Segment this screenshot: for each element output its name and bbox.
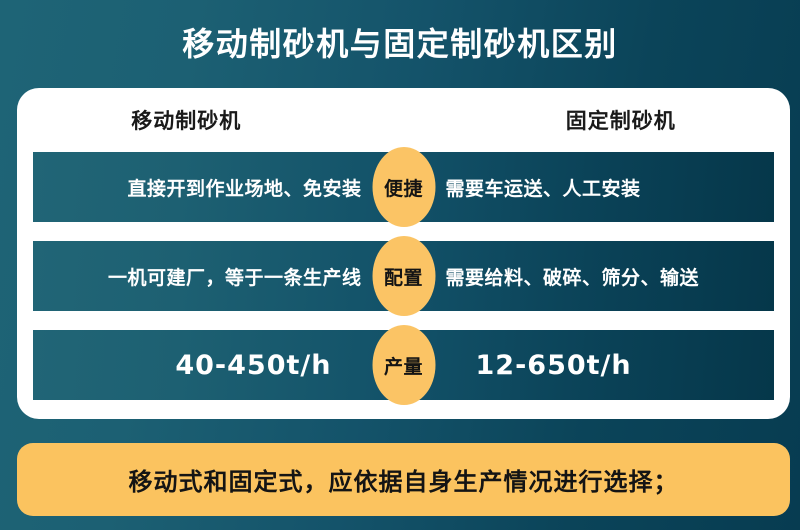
footer-note-text: 移动式和固定式，应依据自身生产情况进行选择； [129,462,679,497]
row-badge: 配置 [372,236,435,316]
row-value-mobile: 40-450t/h [33,350,404,381]
row-badge-label: 产量 [384,352,423,379]
table-row: 一机可建厂，等于一条生产线 配置 需要给料、破碎、筛分、输送 [33,241,774,311]
page-title: 移动制砂机与固定制砂机区别 [182,28,618,60]
row-value-stationary: 需要车运送、人工安装 [404,174,775,201]
row-badge-label: 便捷 [384,174,423,201]
row-value-mobile: 一机可建厂，等于一条生产线 [33,263,404,290]
row-value-mobile: 直接开到作业场地、免安装 [33,174,404,201]
row-badge-label: 配置 [384,263,423,290]
comparison-column-headers: 移动制砂机 固定制砂机 [17,88,790,152]
footer-note-banner: 移动式和固定式，应依据自身生产情况进行选择； [17,443,790,516]
table-row: 直接开到作业场地、免安装 便捷 需要车运送、人工安装 [33,152,774,222]
page-title-bar: 移动制砂机与固定制砂机区别 [0,0,800,88]
comparison-card: 移动制砂机 固定制砂机 直接开到作业场地、免安装 便捷 需要车运送、人工安装 一… [17,88,790,419]
row-badge: 便捷 [372,147,435,227]
comparison-rows: 直接开到作业场地、免安装 便捷 需要车运送、人工安装 一机可建厂，等于一条生产线… [17,152,790,400]
row-badge: 产量 [372,325,435,405]
column-header-stationary: 固定制砂机 [416,105,791,135]
table-row: 40-450t/h 产量 12-650t/h [33,330,774,400]
row-value-stationary: 需要给料、破碎、筛分、输送 [404,263,775,290]
column-header-mobile: 移动制砂机 [17,105,416,135]
row-value-stationary: 12-650t/h [404,350,775,381]
